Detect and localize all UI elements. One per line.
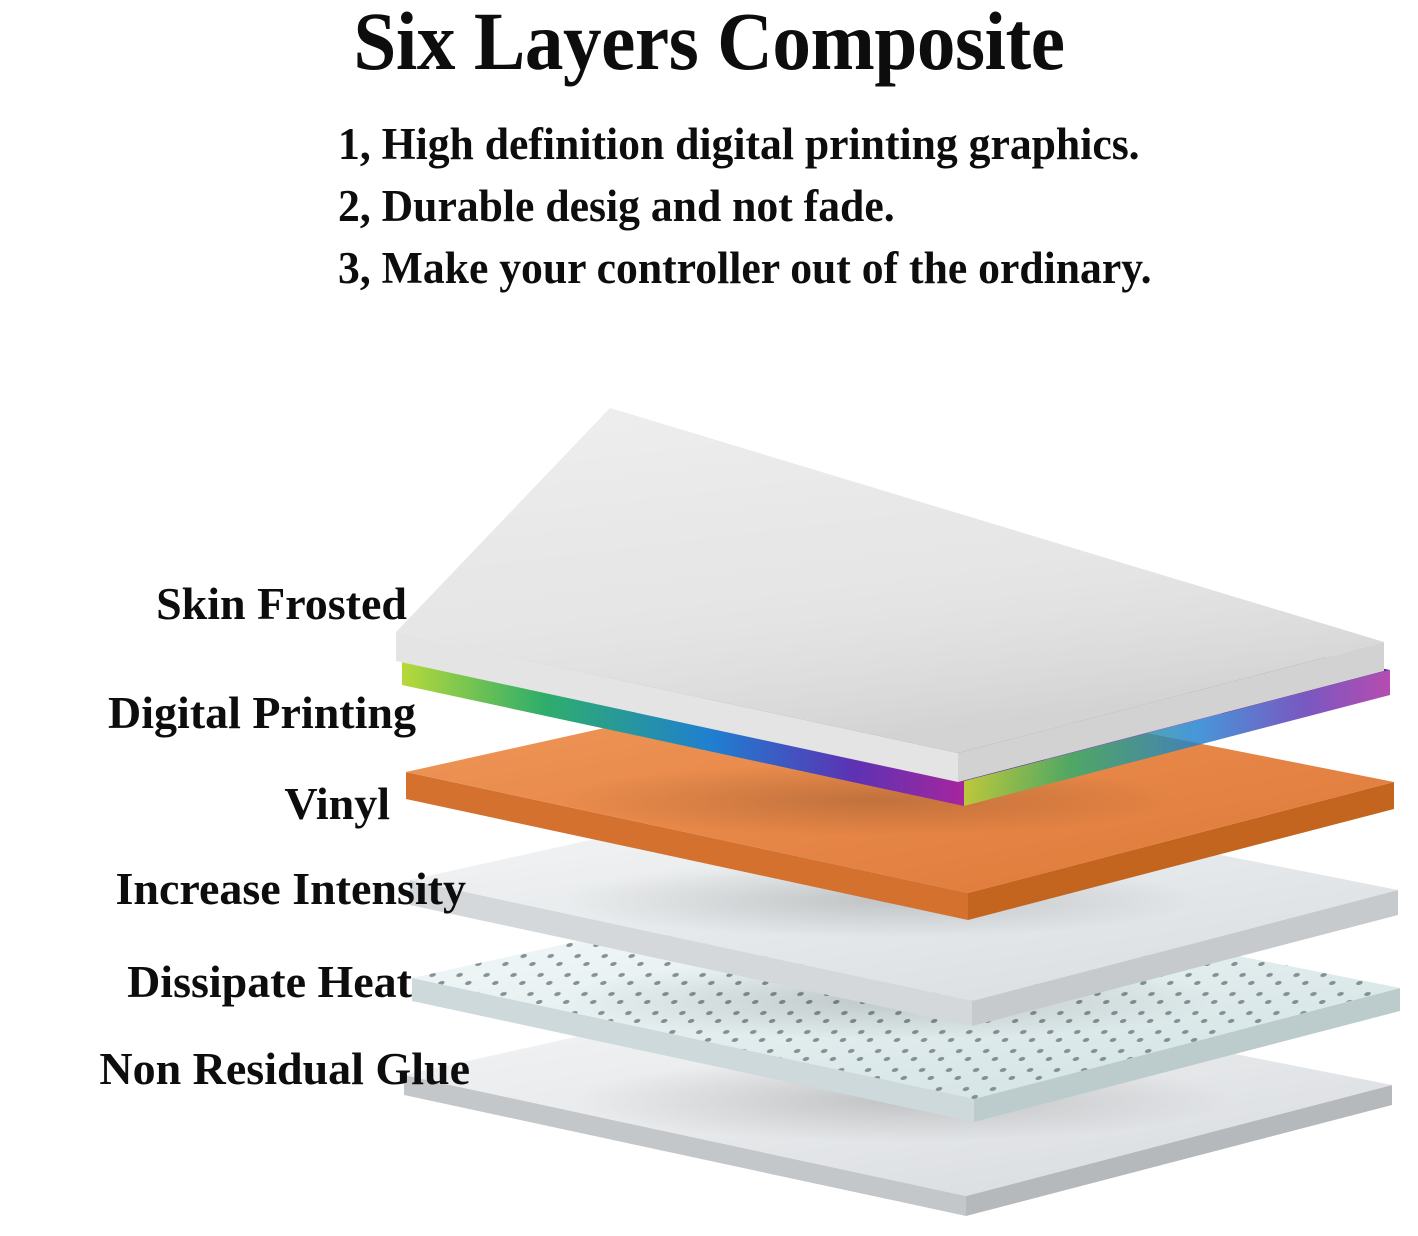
layer-label-dissipate-heat: Dissipate Heat: [0, 959, 412, 1005]
infographic-page: Six Layers Composite 1, High definition …: [0, 0, 1418, 1236]
layer-label-digital-printing: Digital Printing: [0, 690, 416, 736]
layer-label-vinyl: Vinyl: [0, 781, 390, 827]
layer-label-increase-intensity: Increase Intensity: [0, 866, 466, 912]
layer-label-non-residual-glue: Non Residual Glue: [0, 1046, 470, 1092]
layer-label-skin-frosted: Skin Frosted: [0, 581, 407, 627]
